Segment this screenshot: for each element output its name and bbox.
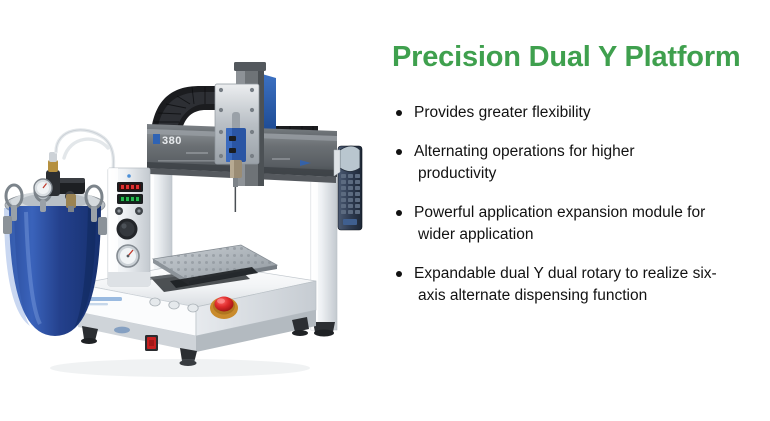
bullet-dot-icon: [396, 210, 402, 216]
dispensing-robot-illustration: 380: [0, 0, 392, 421]
list-item-line2: productivity: [414, 163, 764, 185]
list-item: Provides greater flexibility: [392, 102, 764, 124]
bullet-dot-icon: [396, 271, 402, 277]
red-display: [117, 182, 143, 192]
needle: [235, 187, 237, 212]
page-title: Precision Dual Y Platform: [392, 40, 764, 74]
feature-list: Provides greater flexibility Alternating…: [392, 102, 764, 307]
tank-pressure-gauge: [34, 179, 52, 197]
list-item-line1: Expandable dual Y dual rotary to realize…: [414, 265, 717, 282]
gantry-label: 380: [162, 135, 182, 147]
green-display: [117, 194, 143, 204]
control-panel: [108, 168, 150, 286]
panel-pressure-gauge: [117, 245, 139, 267]
list-item-line2: wider application: [414, 224, 764, 246]
list-item: Expandable dual Y dual rotary to realize…: [392, 263, 764, 307]
slide-root: 380: [0, 0, 770, 421]
air-hoses: [56, 130, 114, 178]
list-item: Alternating operations for higher produc…: [392, 141, 764, 185]
list-item: Powerful application expansion module fo…: [392, 202, 764, 246]
list-item-line1: Powerful application expansion module fo…: [414, 204, 705, 221]
list-item-line2: axis alternate dispensing function: [414, 285, 764, 307]
content-panel: Precision Dual Y Platform Provides great…: [392, 40, 764, 370]
bullet-dot-icon: [396, 149, 402, 155]
product-image: 380: [0, 0, 392, 421]
bullet-dot-icon: [396, 110, 402, 116]
list-item-line1: Alternating operations for higher: [414, 143, 635, 160]
teach-pendant: [334, 146, 362, 230]
power-switch: [145, 335, 158, 351]
list-item-line1: Provides greater flexibility: [414, 104, 591, 121]
